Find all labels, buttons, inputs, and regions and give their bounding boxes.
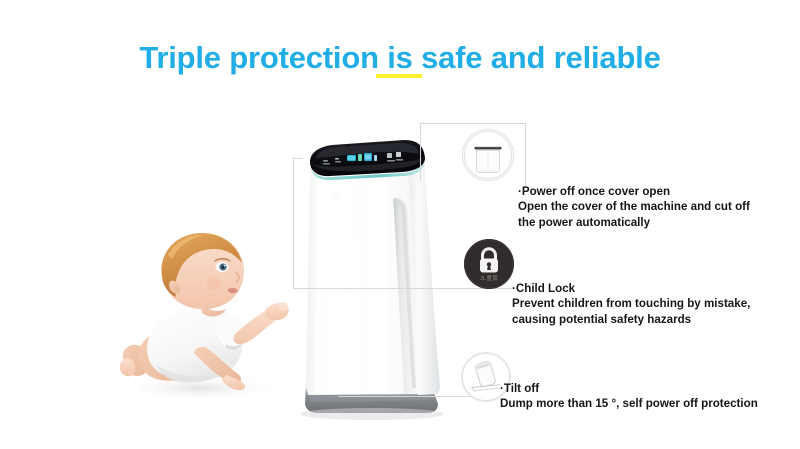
feature-callout-child-lock: ·Child Lock Prevent children from touchi… xyxy=(512,281,750,327)
open-cover-icon xyxy=(462,129,514,181)
slide-canvas: Triple protection is safe and reliable xyxy=(0,0,800,449)
leader-line-2-top-tick xyxy=(293,158,303,159)
feature-callout-power-off-cover-open: ·Power off once cover open Open the cove… xyxy=(518,184,750,230)
feature-callout-tilt-off: ·Tilt off Dump more than 15 °, self powe… xyxy=(500,381,758,412)
feature-3-body-line-1: Dump more than 15 °, self power off prot… xyxy=(500,396,758,411)
feature-3-heading: ·Tilt off xyxy=(500,381,758,396)
feature-2-heading: ·Child Lock xyxy=(512,281,750,296)
feature-1-body-line-2: the power automatically xyxy=(518,215,750,230)
page-title: Triple protection is safe and reliable xyxy=(0,40,800,76)
leader-line-1-down-to-product xyxy=(420,123,421,181)
title-underline-accent xyxy=(376,74,422,78)
leader-line-1-right xyxy=(525,123,526,188)
feature-1-body-line-1: Open the cover of the machine and cut of… xyxy=(518,199,750,214)
feature-2-body-line-2: causing potential safety hazards xyxy=(512,312,750,327)
air-purifier-product-image xyxy=(292,136,452,426)
feature-2-body-line-1: Prevent children from touching by mistak… xyxy=(512,296,750,311)
feature-1-heading: ·Power off once cover open xyxy=(518,184,750,199)
leader-line-1-top xyxy=(420,123,525,124)
padlock-icon-caption: JL童锁 xyxy=(464,274,514,282)
leader-line-2-left xyxy=(293,158,294,289)
padlock-icon: JL童锁 xyxy=(464,239,514,289)
baby-photo xyxy=(118,225,303,410)
